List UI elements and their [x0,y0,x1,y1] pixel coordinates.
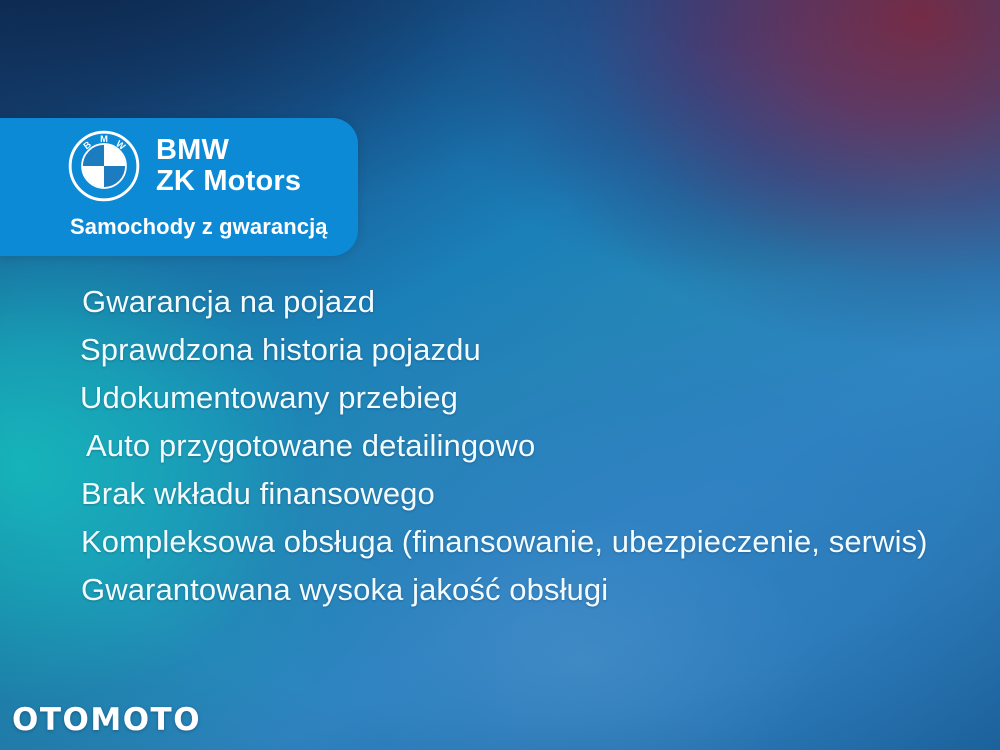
svg-text:M: M [100,134,108,144]
feature-item: Brak wkładu finansowego [0,470,1000,518]
feature-item: Auto przygotowane detailingowo [0,422,1000,470]
feature-item: Gwarantowana wysoka jakość obsługi [0,566,1000,614]
advertisement-image: B M W BMW ZK Motors Samochody z gwarancj… [0,0,1000,750]
feature-list: Gwarancja na pojazd Sprawdzona historia … [0,278,1000,614]
feature-item: Udokumentowany przebieg [0,374,1000,422]
otomoto-watermark: OTOMOTO [12,702,201,738]
feature-item: Gwarancja na pojazd [0,278,1000,326]
feature-item: Sprawdzona historia pojazdu [0,326,1000,374]
dealer-name-block: BMW ZK Motors [156,135,301,196]
dealer-brand-line: BMW [156,135,301,166]
dealer-badge-header: B M W BMW ZK Motors [68,130,301,202]
dealer-badge: B M W BMW ZK Motors Samochody z gwarancj… [0,118,358,256]
bmw-roundel-icon: B M W [68,130,140,202]
dealer-name-line: ZK Motors [156,166,301,197]
dealer-tagline: Samochody z gwarancją [70,214,328,240]
feature-item: Kompleksowa obsługa (finansowanie, ubezp… [0,518,1000,566]
